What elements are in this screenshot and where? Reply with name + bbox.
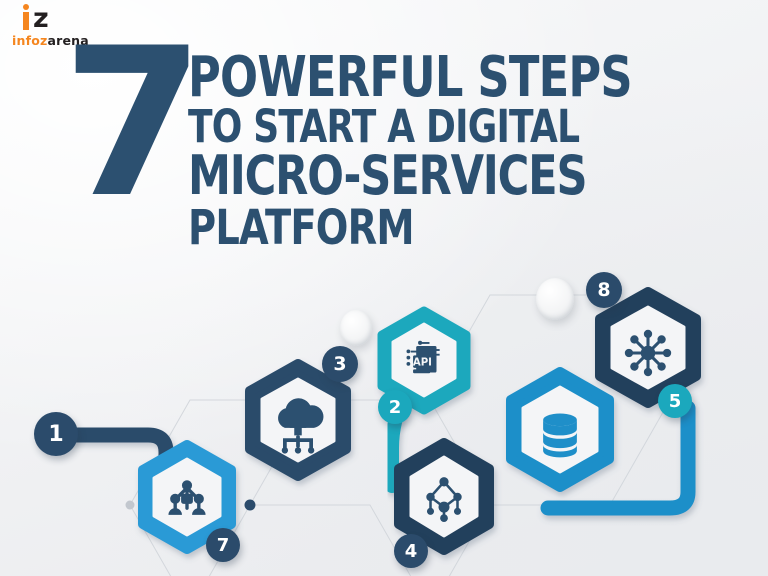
infographic-canvas: z infozarena 7 POWERFUL STEPS TO START A… <box>0 0 768 576</box>
decorative-circle-right <box>536 278 574 320</box>
badge-5[interactable]: 5 <box>658 384 692 418</box>
badge-3[interactable]: 3 <box>322 346 358 382</box>
hex-node-cloud[interactable]: 3 <box>238 358 358 493</box>
badge-7[interactable]: 7 <box>206 528 240 562</box>
badge-4[interactable]: 4 <box>394 534 428 568</box>
hex-node-api[interactable]: API 2 <box>372 306 476 424</box>
badge-2[interactable]: 2 <box>378 390 412 424</box>
badge-8[interactable]: 8 <box>586 272 622 308</box>
hex-node-team[interactable]: 7 <box>132 440 242 564</box>
hex-node-database[interactable]: 5 <box>498 366 622 504</box>
decorative-circle-left <box>340 310 372 346</box>
badge-1[interactable]: 1 <box>34 412 78 456</box>
hex-node-graph[interactable]: 4 <box>388 438 500 564</box>
